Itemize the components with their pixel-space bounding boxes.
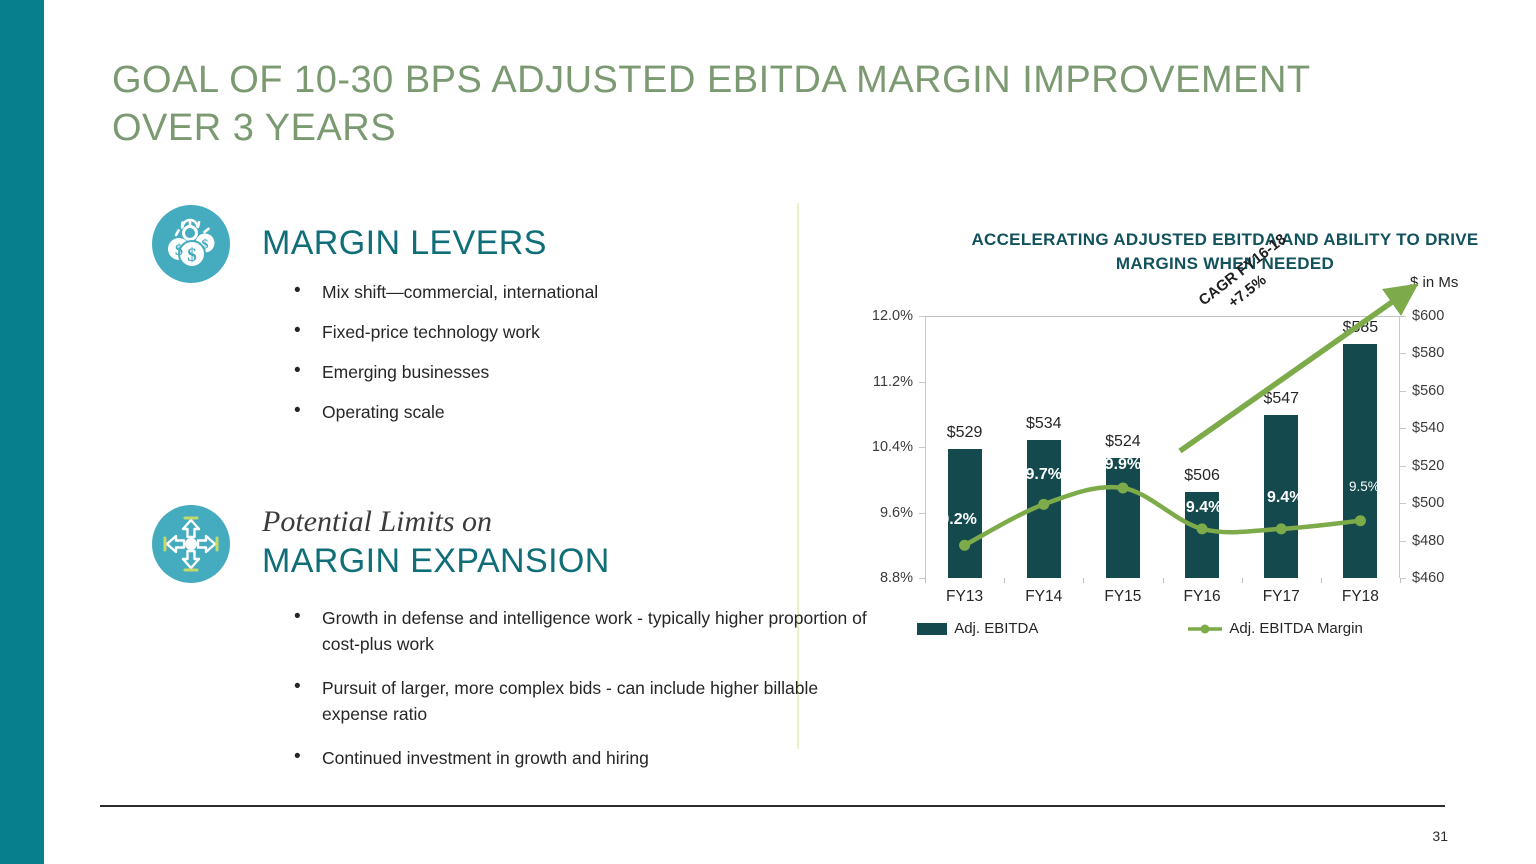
margin-point bbox=[1038, 499, 1049, 510]
x-axis-label: FY16 bbox=[1184, 588, 1221, 606]
page-number: 31 bbox=[1432, 828, 1448, 844]
section-2-bullets: Growth in defense and intelligence work … bbox=[288, 605, 888, 789]
margin-point bbox=[1276, 523, 1287, 534]
x-axis-label: FY13 bbox=[946, 588, 983, 606]
margin-value-label: 9.2% bbox=[940, 511, 976, 529]
axis-tick bbox=[1321, 578, 1322, 583]
axis-tick bbox=[925, 578, 926, 583]
legend-label: Adj. EBITDA bbox=[954, 620, 1038, 637]
gear-coins-icon: $ $ $ bbox=[152, 205, 230, 283]
margin-point bbox=[959, 540, 970, 551]
axis-tick bbox=[1242, 578, 1243, 583]
x-axis-label: FY15 bbox=[1104, 588, 1141, 606]
axis-tick bbox=[1400, 503, 1406, 504]
section-2-heading: MARGIN EXPANSION bbox=[262, 541, 610, 581]
list-item: Fixed-price technology work bbox=[288, 319, 888, 345]
margin-value-label: 9.4% bbox=[1186, 499, 1222, 517]
margin-point bbox=[1197, 523, 1208, 534]
x-axis-label: FY18 bbox=[1342, 588, 1379, 606]
left-axis-tick-label: 11.2% bbox=[873, 374, 913, 390]
margin-value-label: 9.9% bbox=[1105, 456, 1141, 474]
chart-title: ACCELERATING ADJUSTED EBITDA AND ABILITY… bbox=[940, 228, 1510, 276]
section-2-subheading: Potential Limits on bbox=[262, 505, 610, 539]
right-axis-tick-label: $580 bbox=[1412, 345, 1444, 361]
left-axis-tick-label: 9.6% bbox=[880, 505, 913, 521]
page-title: GOAL OF 10-30 BPS ADJUSTED EBITDA MARGIN… bbox=[112, 56, 1372, 152]
axis-tick bbox=[1083, 578, 1084, 583]
legend-bar-swatch bbox=[917, 623, 947, 635]
svg-text:$: $ bbox=[175, 242, 183, 259]
right-axis-tick-label: $600 bbox=[1412, 308, 1444, 324]
list-item: Pursuit of larger, more complex bids - c… bbox=[288, 675, 888, 727]
section-1-bullets: Mix shift—commercial, international Fixe… bbox=[288, 279, 888, 439]
right-axis-tick-label: $560 bbox=[1412, 383, 1444, 399]
right-axis-units: $ in Ms bbox=[1410, 274, 1458, 291]
section-1-heading-group: MARGIN LEVERS bbox=[262, 223, 547, 263]
right-axis-tick-label: $500 bbox=[1412, 495, 1444, 511]
margin-value-label: 9.5% bbox=[1349, 479, 1380, 494]
svg-text:$: $ bbox=[202, 238, 209, 253]
expand-arrows-icon bbox=[152, 505, 230, 583]
list-item: Growth in defense and intelligence work … bbox=[288, 605, 888, 657]
list-item: Mix shift—commercial, international bbox=[288, 279, 888, 305]
legend-label: Adj. EBITDA Margin bbox=[1229, 620, 1362, 637]
legend-line-swatch bbox=[1188, 623, 1222, 635]
right-axis-tick-label: $460 bbox=[1412, 570, 1444, 586]
axis-tick bbox=[1400, 466, 1406, 467]
list-item: Operating scale bbox=[288, 399, 888, 425]
axis-tick bbox=[1400, 541, 1406, 542]
legend-item-margin: Adj. EBITDA Margin bbox=[1188, 620, 1362, 637]
margin-point bbox=[1117, 482, 1128, 493]
right-axis-tick-label: $480 bbox=[1412, 533, 1444, 549]
list-item: Continued investment in growth and hirin… bbox=[288, 745, 888, 771]
x-axis-label: FY14 bbox=[1025, 588, 1062, 606]
margin-value-label: 9.4% bbox=[1267, 489, 1303, 507]
list-item: Emerging businesses bbox=[288, 359, 888, 385]
footer-divider bbox=[100, 805, 1445, 807]
right-axis-tick-label: $540 bbox=[1412, 420, 1444, 436]
margin-value-label: 9.7% bbox=[1026, 466, 1062, 484]
margin-point bbox=[1355, 515, 1366, 526]
chart-legend: Adj. EBITDA Adj. EBITDA Margin bbox=[830, 620, 1450, 637]
right-axis-tick-label: $520 bbox=[1412, 458, 1444, 474]
axis-tick bbox=[1163, 578, 1164, 583]
axis-tick bbox=[1004, 578, 1005, 583]
left-axis-tick-label: 8.8% bbox=[880, 570, 913, 586]
axis-tick bbox=[1400, 578, 1401, 583]
left-axis-tick-label: 10.4% bbox=[872, 439, 913, 455]
legend-item-ebitda: Adj. EBITDA bbox=[917, 620, 1038, 637]
left-accent-bar bbox=[0, 0, 44, 864]
section-1-heading: MARGIN LEVERS bbox=[262, 223, 547, 263]
section-2-heading-group: Potential Limits on MARGIN EXPANSION bbox=[262, 505, 610, 581]
left-axis-tick-label: 12.0% bbox=[872, 308, 913, 324]
x-axis-label: FY17 bbox=[1263, 588, 1300, 606]
svg-text:$: $ bbox=[187, 245, 197, 266]
